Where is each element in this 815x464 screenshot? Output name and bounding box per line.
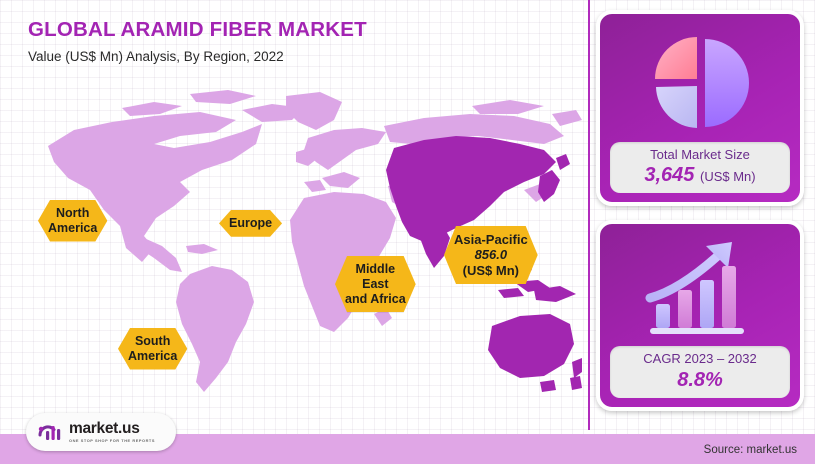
stat-card-label-box: CAGR 2023 – 2032 8.8% xyxy=(610,346,790,397)
map-label-value: 856.0 xyxy=(454,247,528,262)
stat-card-value: 3,645 (US$ Mn) xyxy=(614,164,786,186)
source-text: Source: market.us xyxy=(704,444,797,456)
stat-card-value-number: 8.8% xyxy=(677,369,723,391)
stat-card-total-market-size: Total Market Size 3,645 (US$ Mn) xyxy=(596,10,804,206)
panel-divider xyxy=(588,0,590,430)
map-label-middle-east-africa[interactable]: Middle East and Africa xyxy=(335,256,416,312)
stat-cards: Total Market Size 3,645 (US$ Mn) xyxy=(596,10,804,411)
map-label-asia-pacific[interactable]: Asia-Pacific 856.0 (US$ Mn) xyxy=(444,226,538,284)
map-label-line: America xyxy=(48,221,97,236)
map-label-line: South xyxy=(128,334,177,349)
pie-chart-icon xyxy=(610,24,790,142)
map-label-north-america[interactable]: North America xyxy=(38,200,107,242)
map-label-line: Europe xyxy=(229,216,272,231)
stat-card-value: 8.8% xyxy=(614,369,786,391)
logo-tagline: ONE STOP SHOP FOR THE REPORTS xyxy=(69,439,155,443)
growth-bar-chart-arrow-icon xyxy=(610,234,790,346)
stat-card-label: CAGR 2023 – 2032 xyxy=(614,352,786,366)
stat-card-label: Total Market Size xyxy=(614,148,786,162)
market-us-logo[interactable]: market.us ONE STOP SHOP FOR THE REPORTS xyxy=(26,413,176,451)
map-label-south-america[interactable]: South America xyxy=(118,328,187,370)
map-label-line: Asia-Pacific xyxy=(454,232,528,247)
logo-name: market.us xyxy=(69,421,155,437)
map-label-line: America xyxy=(128,349,177,364)
stat-card-value-number: 3,645 xyxy=(644,164,694,186)
map-label-line: and Africa xyxy=(345,292,406,307)
header: GLOBAL ARAMID FIBER MARKET Value (US$ Mn… xyxy=(28,18,367,64)
stat-card-cagr: CAGR 2023 – 2032 8.8% xyxy=(596,220,804,410)
stat-card-label-box: Total Market Size 3,645 (US$ Mn) xyxy=(610,142,790,193)
map-label-line: North xyxy=(48,206,97,221)
infographic-root: GLOBAL ARAMID FIBER MARKET Value (US$ Mn… xyxy=(0,0,815,464)
map-label-unit: (US$ Mn) xyxy=(454,263,528,278)
map-label-line: East xyxy=(345,277,406,292)
stat-card-value-unit: (US$ Mn) xyxy=(700,169,756,184)
logo-text: market.us ONE STOP SHOP FOR THE REPORTS xyxy=(69,421,155,442)
map-label-europe[interactable]: Europe xyxy=(219,210,282,237)
page-title: GLOBAL ARAMID FIBER MARKET xyxy=(28,18,367,42)
map-label-line: Middle xyxy=(345,262,406,277)
page-subtitle: Value (US$ Mn) Analysis, By Region, 2022 xyxy=(28,49,367,64)
logo-mark-icon xyxy=(37,421,63,443)
